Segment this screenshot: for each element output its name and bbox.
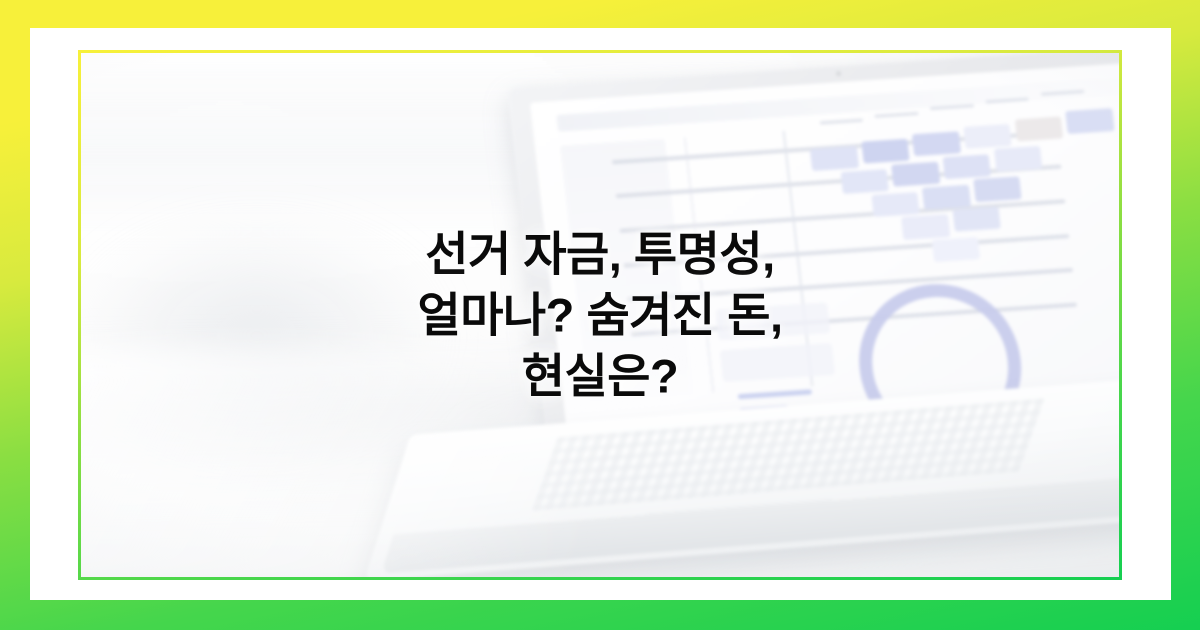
og-image-canvas: 선거 자금, 투명성, 얼마나? 숨겨진 돈, 현실은? xyxy=(0,0,1200,630)
headline-line-1: 선거 자금, 투명성, xyxy=(139,223,1061,284)
headline-block: 선거 자금, 투명성, 얼마나? 숨겨진 돈, 현실은? xyxy=(81,223,1119,406)
background-photo: 선거 자금, 투명성, 얼마나? 숨겨진 돈, 현실은? xyxy=(81,53,1119,577)
headline-line-2: 얼마나? 숨겨진 돈, xyxy=(139,284,1061,345)
headline-line-3: 현실은? xyxy=(139,346,1061,407)
